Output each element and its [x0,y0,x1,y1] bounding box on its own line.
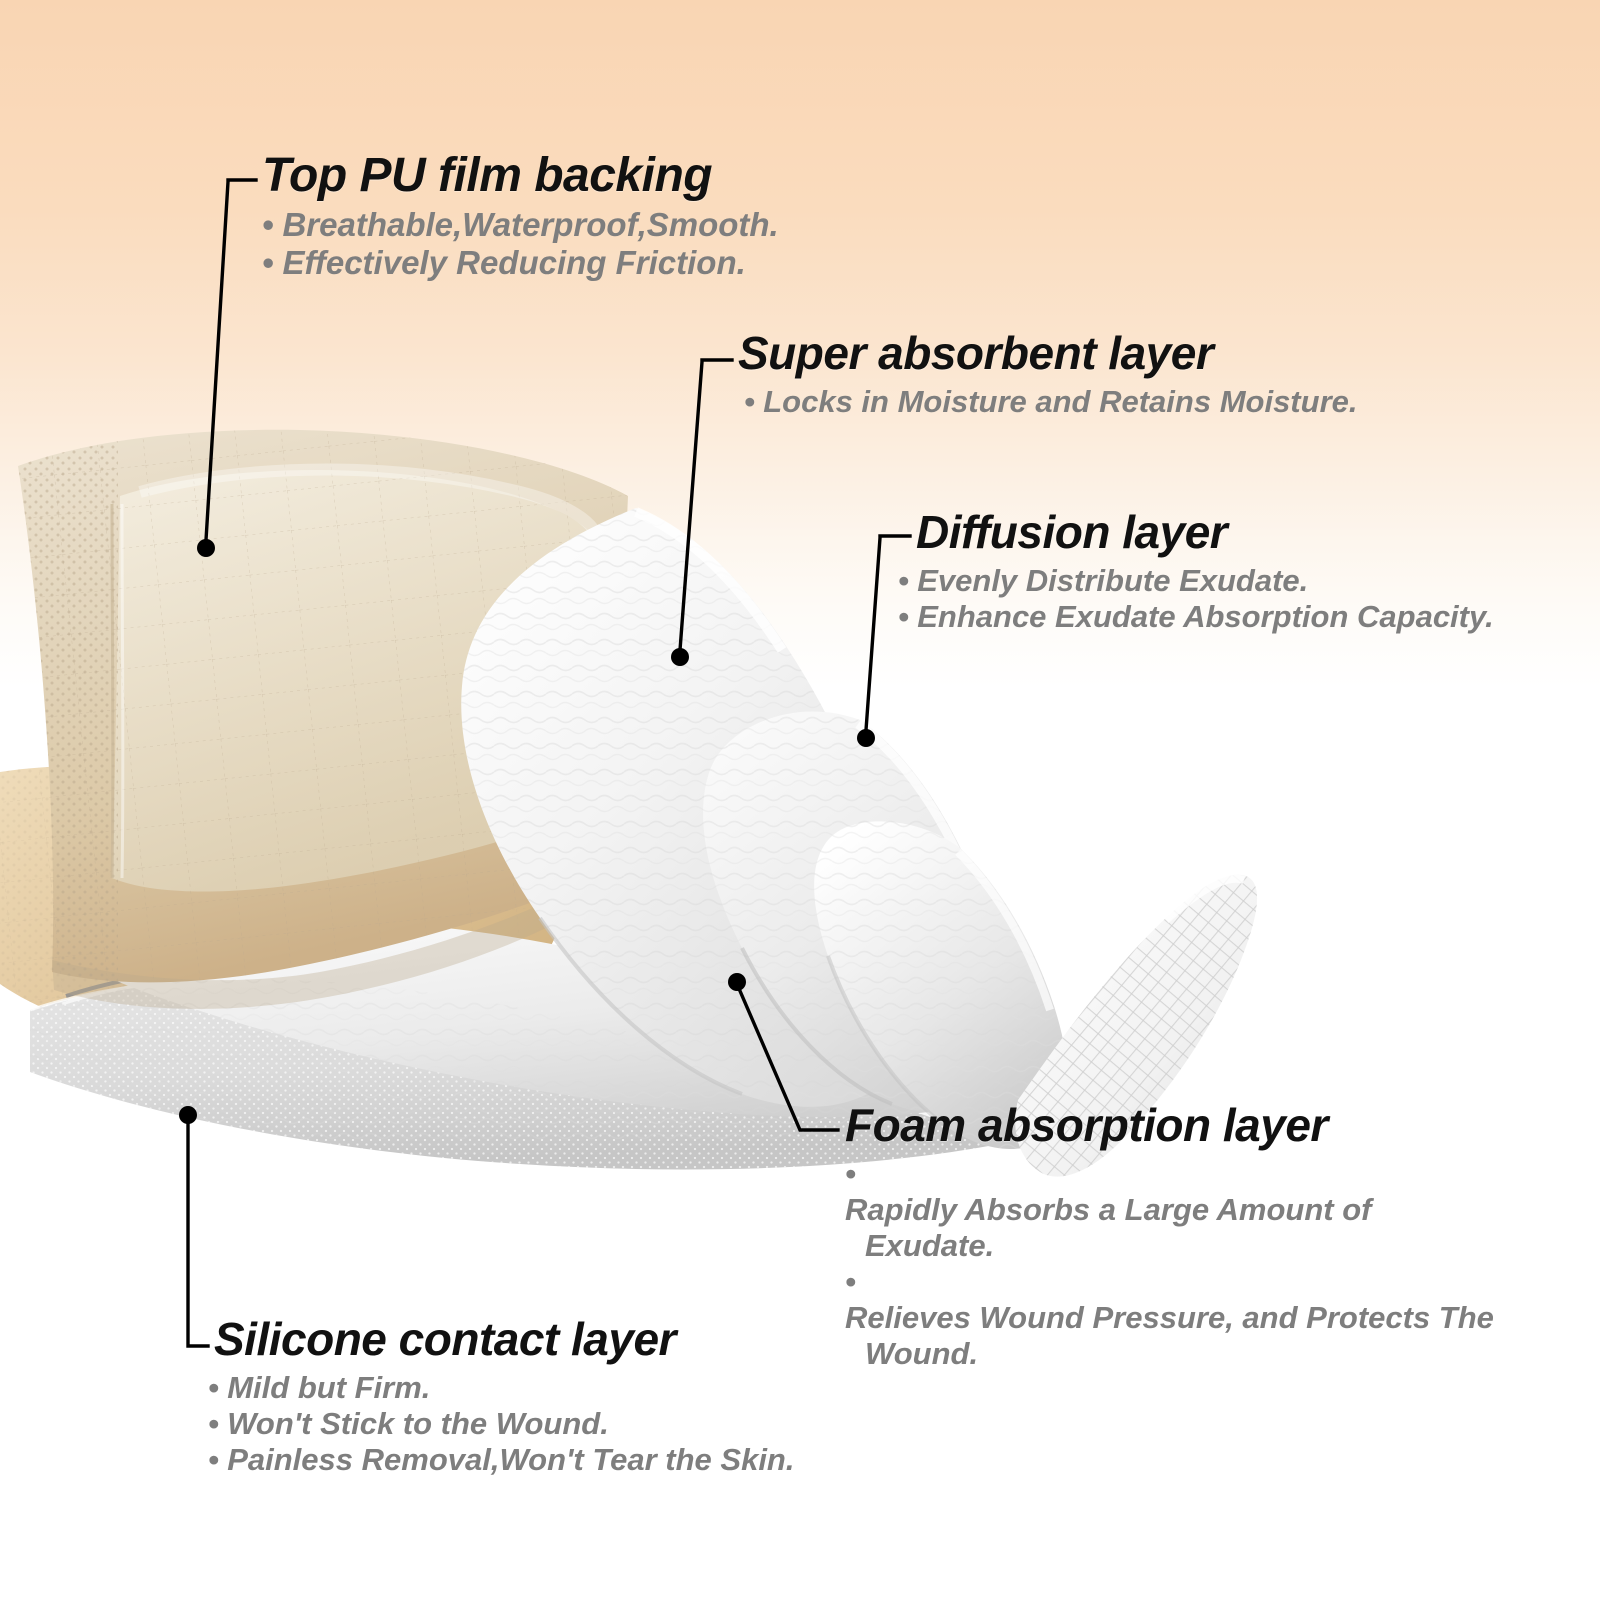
bullet-glyph: • [845,1156,864,1192]
bullet-glyph: • [208,1370,227,1406]
label-bullets-silicone: •Mild but Firm. •Won't Stick to the Woun… [208,1370,794,1478]
label-bullets-foam: •Rapidly Absorbs a Large Amount of Exuda… [845,1156,1505,1372]
label-silicone-contact-layer: Silicone contact layer •Mild but Firm. •… [214,1316,794,1478]
label-top-pu-film-backing: Top PU film backing •Breathable,Waterpro… [262,152,779,283]
bullet-text: Rapidly Absorbs a Large Amount of Exudat… [845,1192,1505,1264]
bullet-item: •Locks in Moisture and Retains Moisture. [744,384,1358,420]
bullet-item: •Won't Stick to the Wound. [208,1406,794,1442]
bullet-text: Mild but Firm. [227,1370,430,1405]
label-title-pu: Top PU film backing [262,152,779,200]
bullet-glyph: • [208,1442,227,1478]
label-diffusion-layer: Diffusion layer •Evenly Distribute Exuda… [916,509,1494,635]
label-title-foam: Foam absorption layer [845,1102,1505,1148]
bullet-glyph: • [898,563,917,599]
label-bullets-diffusion: •Evenly Distribute Exudate. •Enhance Exu… [898,563,1494,635]
bullet-item: •Relieves Wound Pressure, and Protects T… [845,1264,1505,1372]
bullet-glyph: • [744,384,763,420]
bullet-item: •Evenly Distribute Exudate. [898,563,1494,599]
bullet-text: Enhance Exudate Absorption Capacity. [917,599,1493,634]
label-bullets-super-absorbent: •Locks in Moisture and Retains Moisture. [738,384,1358,420]
bullet-item: •Breathable,Waterproof,Smooth. [262,206,779,244]
bullet-item: •Mild but Firm. [208,1370,794,1406]
bullet-glyph: • [262,244,282,282]
bullet-text: Evenly Distribute Exudate. [917,563,1308,598]
bullet-text: Breathable,Waterproof,Smooth. [282,206,778,243]
label-super-absorbent-layer: Super absorbent layer •Locks in Moisture… [738,330,1358,420]
bullet-item: •Rapidly Absorbs a Large Amount of Exuda… [845,1156,1505,1264]
bullet-glyph: • [845,1264,864,1300]
label-title-diffusion: Diffusion layer [916,509,1494,555]
label-title-silicone: Silicone contact layer [214,1316,794,1362]
bullet-text: Won't Stick to the Wound. [227,1406,609,1441]
bullet-text: Effectively Reducing Friction. [282,244,745,281]
label-foam-absorption-layer: Foam absorption layer •Rapidly Absorbs a… [845,1102,1505,1372]
bullet-item: •Painless Removal,Won't Tear the Skin. [208,1442,794,1478]
label-bullets-pu: •Breathable,Waterproof,Smooth. •Effectiv… [262,206,779,283]
bullet-text: Painless Removal,Won't Tear the Skin. [227,1442,794,1477]
bullet-item: •Enhance Exudate Absorption Capacity. [898,599,1494,635]
bullet-glyph: • [898,599,917,635]
bullet-glyph: • [208,1406,227,1442]
bullet-text: Relieves Wound Pressure, and Protects Th… [845,1300,1505,1372]
label-title-super-absorbent: Super absorbent layer [738,330,1358,376]
infographic-canvas: Top PU film backing •Breathable,Waterpro… [0,0,1600,1600]
bullet-glyph: • [262,206,282,244]
bullet-text: Locks in Moisture and Retains Moisture. [763,384,1357,419]
bullet-item: •Effectively Reducing Friction. [262,244,779,282]
